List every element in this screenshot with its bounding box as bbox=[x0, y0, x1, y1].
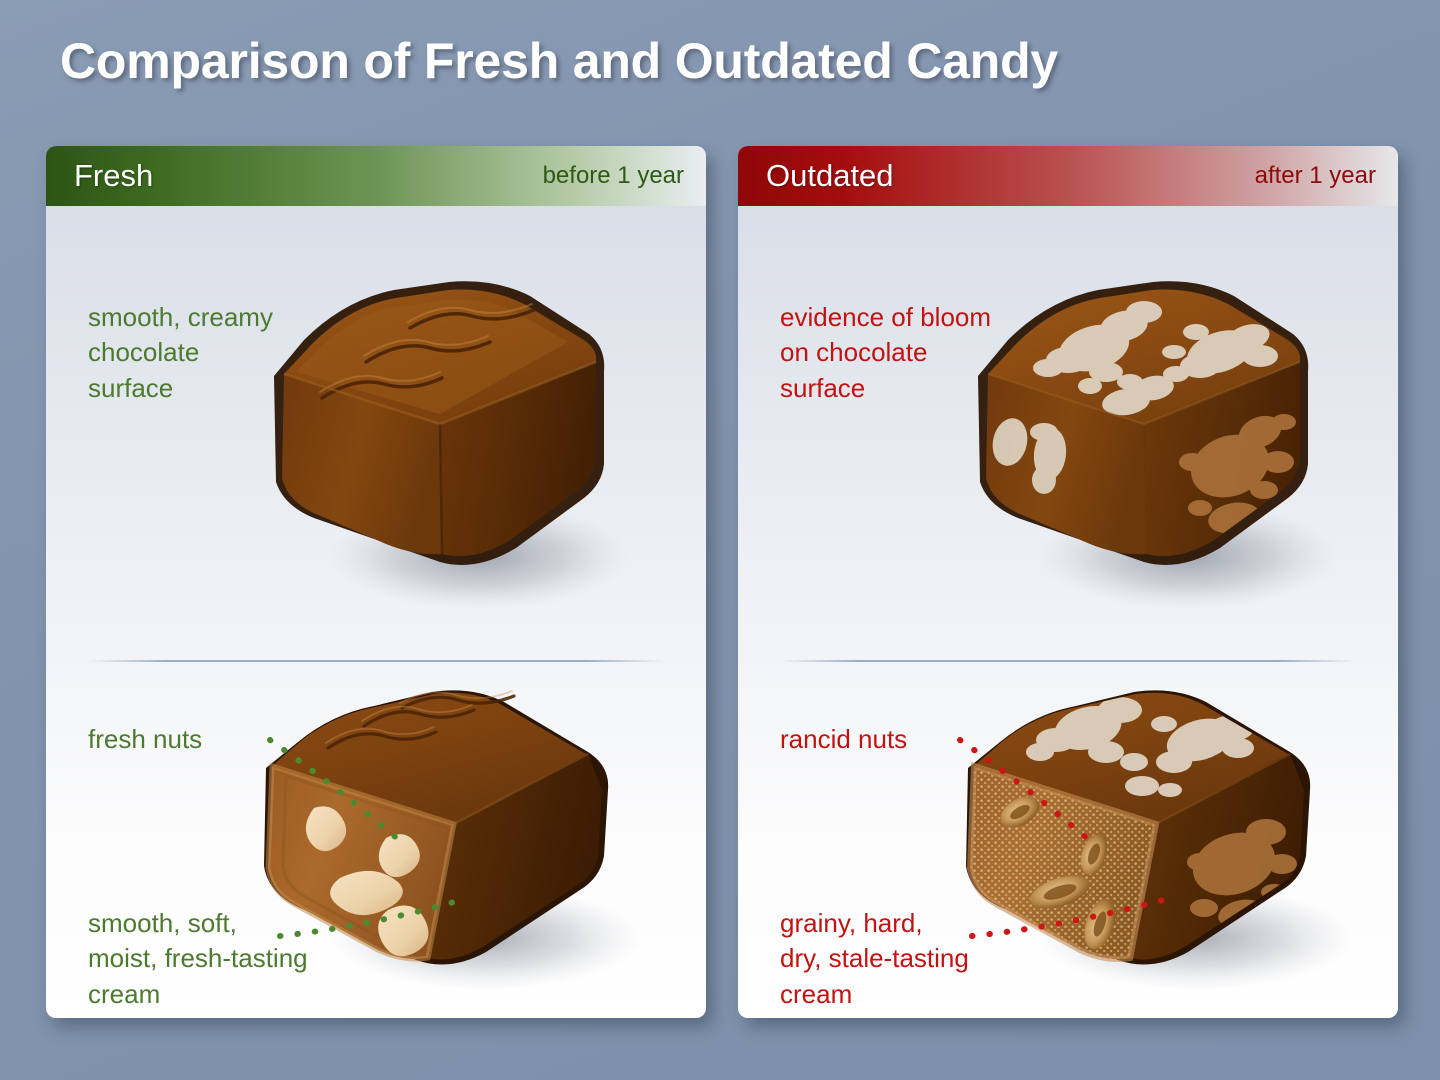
panel-header-sublabel: after 1 year bbox=[1255, 162, 1376, 190]
panel-header-outdated: Outdated after 1 year bbox=[738, 146, 1398, 206]
panel-outdated: Outdated after 1 year evidence of bloom … bbox=[738, 146, 1398, 1018]
leader-line-cream-outdated bbox=[968, 892, 1178, 940]
panel-body-outdated: evidence of bloom on chocolate surface r… bbox=[738, 206, 1398, 1018]
panel-header-label: Outdated bbox=[766, 158, 894, 194]
image-whole-candy-fresh bbox=[244, 256, 634, 626]
panel-body-fresh: smooth, creamy chocolate surface fresh n… bbox=[46, 206, 706, 1018]
panel-header-label: Fresh bbox=[74, 158, 153, 194]
panel-fresh: Fresh before 1 year smooth, creamy choco… bbox=[46, 146, 706, 1018]
section-divider bbox=[88, 660, 664, 662]
callout-nuts-fresh: fresh nuts bbox=[88, 722, 202, 757]
page-title: Comparison of Fresh and Outdated Candy bbox=[60, 32, 1058, 90]
leader-line-cream-fresh bbox=[276, 892, 476, 940]
panel-header-fresh: Fresh before 1 year bbox=[46, 146, 706, 206]
section-divider bbox=[780, 660, 1356, 662]
callout-nuts-outdated: rancid nuts bbox=[780, 722, 907, 757]
leader-line-nuts-outdated bbox=[956, 734, 1136, 864]
panel-header-sublabel: before 1 year bbox=[543, 162, 684, 190]
leader-line-nuts-fresh bbox=[266, 734, 446, 864]
image-whole-candy-outdated bbox=[948, 256, 1348, 626]
slide: Comparison of Fresh and Outdated Candy F… bbox=[0, 0, 1440, 1080]
